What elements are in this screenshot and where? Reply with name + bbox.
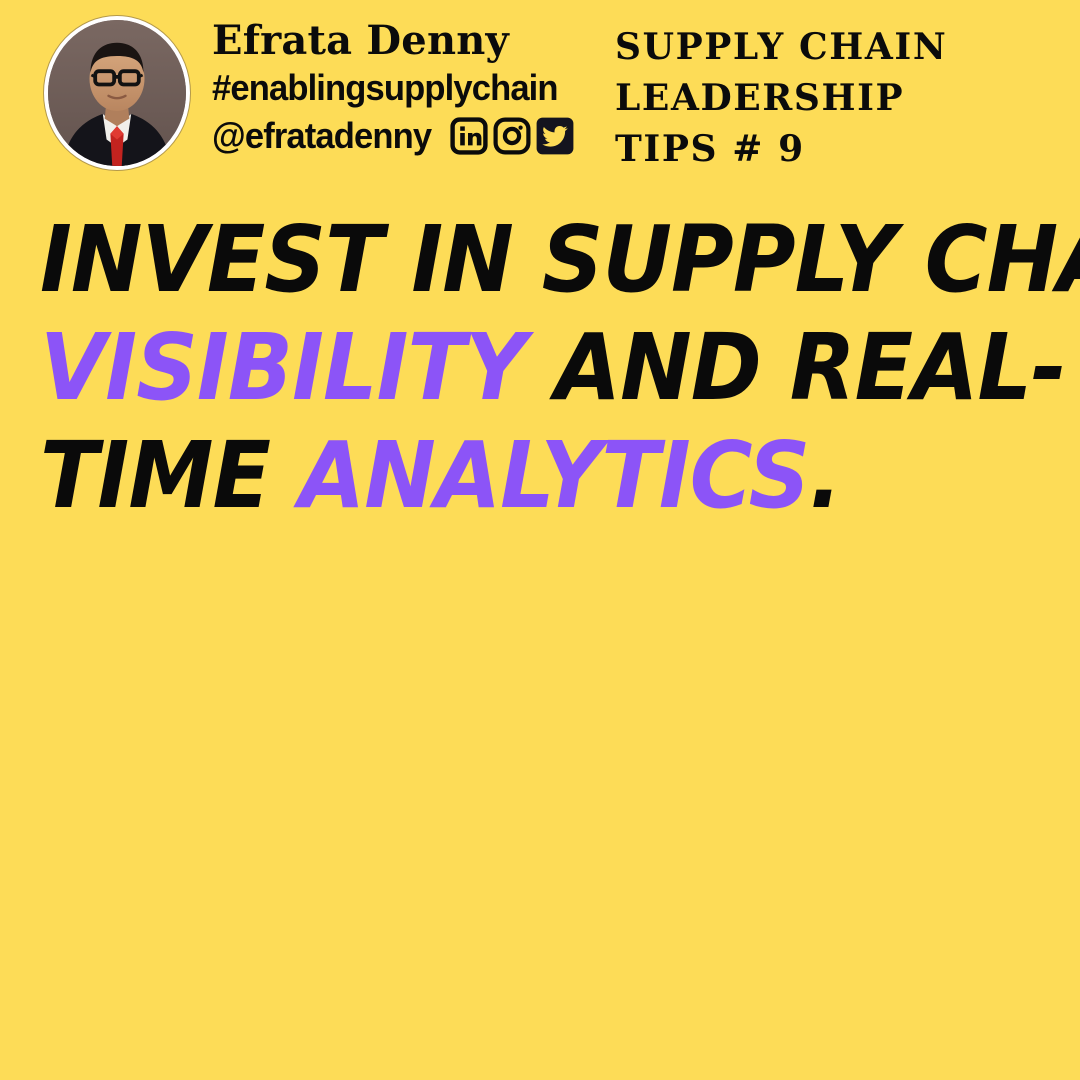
headline-line-3: TIME ANALYTICS. — [40, 422, 970, 530]
series-title-line-1: SUPPLY CHAIN — [615, 22, 1055, 73]
series-title: SUPPLY CHAIN LEADERSHIP TIPS # 9 — [615, 22, 1055, 175]
avatar — [44, 16, 190, 170]
author-hashtag: #enablingsupplychain — [212, 64, 596, 112]
series-title-line-3: TIPS # 9 — [615, 124, 1055, 175]
social-links — [450, 117, 574, 155]
handle-row: @efratadenny — [212, 112, 612, 160]
identity-block: Efrata Denny #enablingsupplychain @efrat… — [212, 18, 612, 160]
instagram-link[interactable] — [493, 117, 531, 155]
twitter-link[interactable] — [536, 117, 574, 155]
twitter-icon[interactable] — [536, 117, 574, 155]
avatar-portrait-image — [48, 20, 186, 166]
instagram-icon[interactable] — [493, 117, 531, 155]
headline-segment: AND REAL- — [526, 314, 1066, 421]
linkedin-icon[interactable] — [450, 117, 488, 155]
author-handle: @efratadenny — [212, 112, 431, 160]
social-card: Efrata Denny #enablingsupplychain @efrat… — [0, 0, 1080, 1080]
headline-segment-accent: VISIBILITY — [40, 314, 526, 421]
linkedin-link[interactable] — [450, 117, 488, 155]
author-name: Efrata Denny — [212, 18, 612, 64]
headline-segment-period: . — [809, 422, 841, 529]
headline: INVEST IN SUPPLY CHAIN VISIBILITY AND RE… — [40, 206, 1040, 530]
empty-content-area — [0, 545, 1080, 1080]
headline-segment: TIME — [40, 422, 299, 529]
headline-segment: INVEST IN SUPPLY CHAIN — [40, 206, 1080, 313]
headline-line-2: VISIBILITY AND REAL- — [40, 314, 970, 422]
series-title-line-2: LEADERSHIP — [615, 73, 1055, 124]
headline-segment-accent: ANALYTICS — [299, 422, 809, 529]
card-header: Efrata Denny #enablingsupplychain @efrat… — [0, 0, 1080, 185]
headline-line-1: INVEST IN SUPPLY CHAIN — [40, 206, 970, 314]
